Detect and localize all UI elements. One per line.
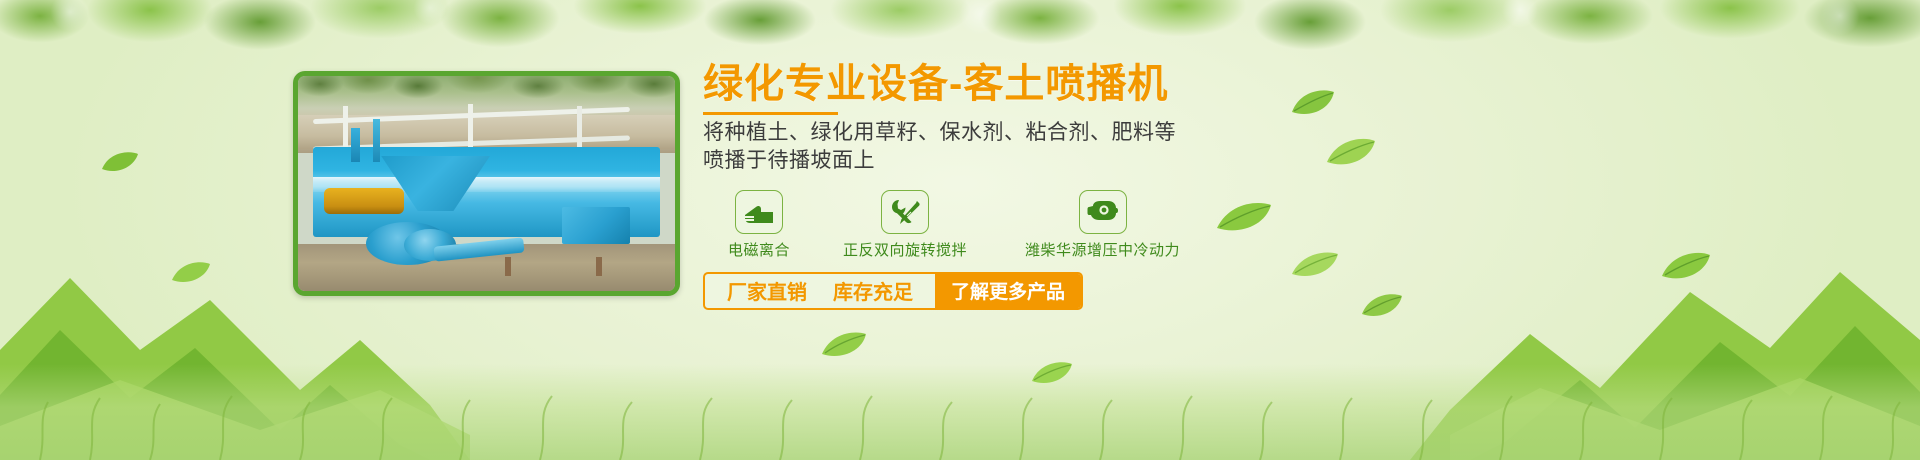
feature-item-engine[interactable]: 潍柴华源增压中冷动力 xyxy=(995,190,1210,260)
grass-decoration xyxy=(0,364,1920,460)
promo-banner: 绿化专业设备-客土喷播机 将种植土、绿化用草籽、保水剂、粘合剂、肥料等 喷播于待… xyxy=(0,0,1920,460)
leaf-icon xyxy=(170,260,212,291)
feature-item-clutch[interactable]: 电磁离合 xyxy=(703,190,815,260)
page-title: 绿化专业设备-客土喷播机 xyxy=(703,62,1323,106)
cta-slogan-1: 厂家直销 xyxy=(727,276,807,305)
banner-content: 绿化专业设备-客土喷播机 将种植土、绿化用草籽、保水剂、粘合剂、肥料等 喷播于待… xyxy=(703,62,1323,310)
leaf-icon xyxy=(820,330,868,365)
feature-list: 电磁离合 正反双向旋转搅拌 xyxy=(703,190,1323,260)
clutch-icon xyxy=(735,190,783,234)
leaf-icon xyxy=(1030,360,1074,392)
engine-icon xyxy=(1079,190,1127,234)
leaf-icon xyxy=(1660,250,1712,287)
cta-bar: 厂家直销 库存充足 了解更多产品 xyxy=(703,272,1083,310)
subtitle-line-1: 将种植土、绿化用草籽、保水剂、粘合剂、肥料等 xyxy=(703,119,1323,147)
title-divider xyxy=(703,112,838,115)
feature-item-mixer[interactable]: 正反双向旋转搅拌 xyxy=(815,190,995,260)
learn-more-button[interactable]: 了解更多产品 xyxy=(935,274,1081,308)
subtitle: 将种植土、绿化用草籽、保水剂、粘合剂、肥料等 喷播于待播坡面上 xyxy=(703,119,1323,176)
product-photo xyxy=(293,71,680,296)
leaf-icon xyxy=(100,150,140,180)
feature-label: 正反双向旋转搅拌 xyxy=(815,239,995,260)
cta-slogan: 厂家直销 库存充足 xyxy=(705,274,935,308)
leaf-icon xyxy=(1360,292,1404,325)
leaf-icon xyxy=(1325,136,1377,173)
feature-label: 电磁离合 xyxy=(703,239,815,260)
product-photo-image xyxy=(298,76,675,291)
tools-icon xyxy=(881,190,929,234)
cta-slogan-2: 库存充足 xyxy=(833,276,913,305)
subtitle-line-2: 喷播于待播坡面上 xyxy=(703,147,1323,175)
feature-label: 潍柴华源增压中冷动力 xyxy=(995,239,1210,260)
